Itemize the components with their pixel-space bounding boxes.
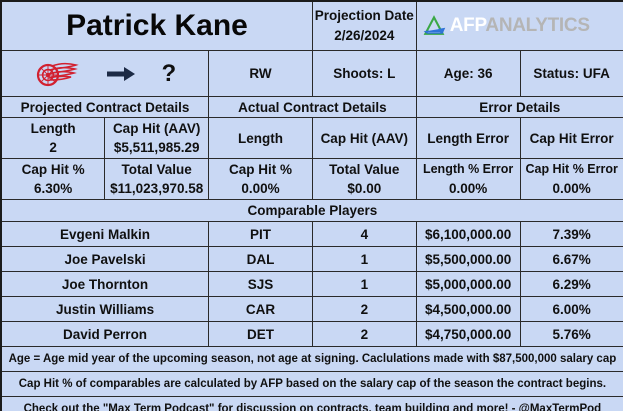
comparable-player-team: CAR — [209, 297, 313, 322]
comparable-player-name: David Perron — [1, 322, 209, 347]
player-age: Age: 36 — [416, 51, 520, 97]
table-row: David Perron DET 2 $4,750,000.00 5.76% — [1, 322, 623, 347]
player-name-cell: Patrick Kane — [1, 1, 312, 51]
footer-note-podcast: Check out the "Max Term Podcast" for dis… — [1, 397, 623, 411]
caphit-error-cell: Cap Hit Error — [520, 118, 623, 159]
comparable-player-name: Joe Pavelski — [1, 247, 209, 272]
detail-row-2: Cap Hit % 6.30% Total Value $11,023,970.… — [1, 159, 623, 200]
projected-length-value: 2 — [2, 138, 104, 157]
player-info-row: ? RW Shoots: L Age: 36 Status: UFA — [1, 51, 623, 97]
detroit-red-wings-logo-icon — [34, 59, 80, 89]
table-row: Joe Pavelski DAL 1 $5,500,000.00 6.67% — [1, 247, 623, 272]
projection-table: Patrick Kane Projection Date 2/26/2024 A… — [0, 0, 623, 411]
length-error-label: Length Error — [417, 129, 520, 148]
projection-date-cell: Projection Date 2/26/2024 — [312, 1, 416, 51]
section-error-details: Error Details — [416, 97, 623, 118]
length-pct-error-label: Length % Error — [417, 160, 520, 179]
footer-note-age: Age = Age mid year of the upcoming seaso… — [1, 347, 623, 372]
comparable-player-name: Justin Williams — [1, 297, 209, 322]
comparable-player-pct: 5.76% — [520, 322, 623, 347]
comparable-player-length: 2 — [312, 297, 416, 322]
comparable-player-pct: 6.67% — [520, 247, 623, 272]
player-shoots: Shoots: L — [312, 51, 416, 97]
comparable-player-team: PIT — [209, 222, 313, 247]
section-header-row: Projected Contract Details Actual Contra… — [1, 97, 623, 118]
logo-text: AFPANALYTICS — [450, 15, 590, 37]
projected-caphit-label: Cap Hit (AAV) — [105, 119, 208, 138]
comparable-player-team: SJS — [209, 272, 313, 297]
comparables-title: Comparable Players — [1, 200, 623, 222]
comparable-player-team: DAL — [209, 247, 313, 272]
header-row: Patrick Kane Projection Date 2/26/2024 A… — [1, 1, 623, 51]
actual-caphitpct-value: 0.00% — [209, 179, 312, 198]
actual-length-label: Length — [209, 129, 312, 148]
right-arrow-icon — [106, 65, 136, 83]
projected-totalvalue-value: $11,023,970.58 — [105, 179, 208, 198]
comparable-player-length: 4 — [312, 222, 416, 247]
caphit-pct-error-label: Cap Hit % Error — [521, 160, 623, 179]
table-row: Justin Williams CAR 2 $4,500,000.00 6.00… — [1, 297, 623, 322]
comparable-player-name: Joe Thornton — [1, 272, 209, 297]
projection-date-label: Projection Date — [313, 6, 416, 26]
footer-row-1: Age = Age mid year of the upcoming seaso… — [1, 347, 623, 372]
projection-date-value: 2/26/2024 — [313, 26, 416, 46]
comparable-player-caphit: $5,500,000.00 — [416, 247, 520, 272]
comparable-player-caphit: $5,000,000.00 — [416, 272, 520, 297]
actual-totalvalue-label: Total Value — [313, 160, 416, 179]
player-projection-card: Patrick Kane Projection Date 2/26/2024 A… — [0, 0, 623, 411]
projected-caphitpct-value: 6.30% — [2, 179, 104, 198]
actual-totalvalue-value: $0.00 — [313, 179, 416, 198]
player-position: RW — [209, 51, 313, 97]
destination-team-unknown: ? — [162, 62, 177, 86]
projected-caphitpct-label: Cap Hit % — [2, 160, 104, 179]
projected-caphitpct-cell: Cap Hit % 6.30% — [1, 159, 105, 200]
comparable-player-pct: 6.29% — [520, 272, 623, 297]
actual-caphit-label: Cap Hit (AAV) — [313, 129, 416, 148]
logo-analytics-text: ANALYTICS — [485, 15, 589, 36]
projected-caphit-cell: Cap Hit (AAV) $5,511,985.29 — [105, 118, 209, 159]
table-row: Evgeni Malkin PIT 4 $6,100,000.00 7.39% — [1, 222, 623, 247]
comparables-header-row: Comparable Players — [1, 200, 623, 222]
length-error-cell: Length Error — [416, 118, 520, 159]
projected-totalvalue-label: Total Value — [105, 160, 208, 179]
comparable-player-pct: 6.00% — [520, 297, 623, 322]
comparable-player-team: DET — [209, 322, 313, 347]
table-row: Joe Thornton SJS 1 $5,000,000.00 6.29% — [1, 272, 623, 297]
projected-caphit-value: $5,511,985.29 — [105, 138, 208, 157]
caphit-error-label: Cap Hit Error — [521, 129, 623, 148]
actual-caphit-cell: Cap Hit (AAV) — [312, 118, 416, 159]
comparable-player-length: 2 — [312, 322, 416, 347]
caphit-pct-error-cell: Cap Hit % Error 0.00% — [520, 159, 623, 200]
comparable-player-name: Evgeni Malkin — [1, 222, 209, 247]
projected-length-label: Length — [2, 119, 104, 138]
player-status: Status: UFA — [520, 51, 623, 97]
actual-caphitpct-cell: Cap Hit % 0.00% — [209, 159, 313, 200]
afp-analytics-logo-cell: AFPANALYTICS — [416, 1, 623, 51]
actual-caphitpct-label: Cap Hit % — [209, 160, 312, 179]
comparable-player-pct: 7.39% — [520, 222, 623, 247]
projected-length-cell: Length 2 — [1, 118, 105, 159]
comparable-player-caphit: $4,750,000.00 — [416, 322, 520, 347]
actual-length-cell: Length — [209, 118, 313, 159]
footer-row-3: Check out the "Max Term Podcast" for dis… — [1, 397, 623, 411]
team-transition-cell: ? — [1, 51, 209, 97]
comparable-player-length: 1 — [312, 272, 416, 297]
length-pct-error-value: 0.00% — [417, 179, 520, 198]
footer-note-caphit: Cap Hit % of comparables are calculated … — [1, 372, 623, 397]
length-pct-error-cell: Length % Error 0.00% — [416, 159, 520, 200]
actual-totalvalue-cell: Total Value $0.00 — [312, 159, 416, 200]
logo-afp-text: AFP — [450, 15, 486, 36]
projected-totalvalue-cell: Total Value $11,023,970.58 — [105, 159, 209, 200]
caphit-pct-error-value: 0.00% — [521, 179, 623, 198]
section-actual-contract: Actual Contract Details — [209, 97, 417, 118]
comparable-player-length: 1 — [312, 247, 416, 272]
detail-row-1: Length 2 Cap Hit (AAV) $5,511,985.29 Len… — [1, 118, 623, 159]
page-title: Patrick Kane — [66, 9, 248, 42]
section-projected-contract: Projected Contract Details — [1, 97, 209, 118]
comparable-player-caphit: $4,500,000.00 — [416, 297, 520, 322]
footer-row-2: Cap Hit % of comparables are calculated … — [1, 372, 623, 397]
afp-triangle-icon — [421, 13, 447, 39]
comparable-player-caphit: $6,100,000.00 — [416, 222, 520, 247]
